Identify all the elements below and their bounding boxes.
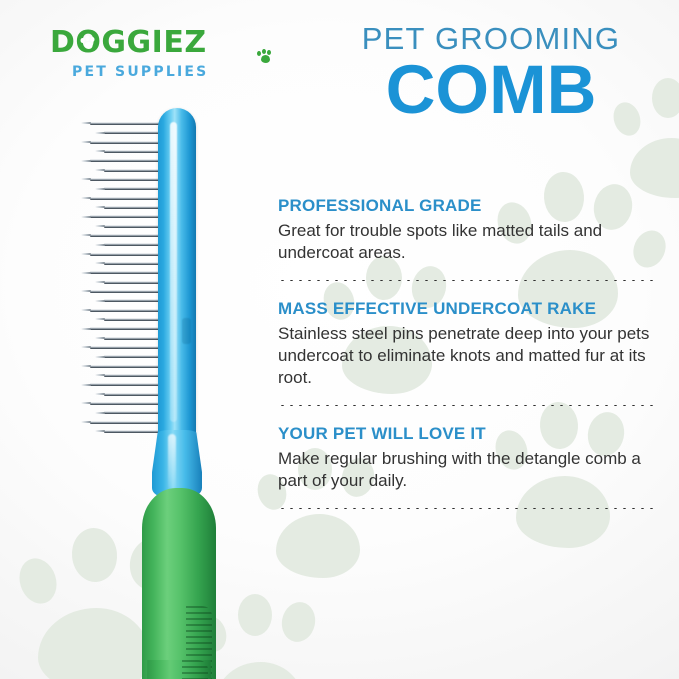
comb-pin	[90, 253, 162, 256]
comb-handle-lower	[146, 660, 212, 679]
title-main: COMB	[331, 56, 651, 124]
comb-pin	[104, 318, 162, 321]
feature-item: MASS EFFECTIVE UNDERCOAT RAKE Stainless …	[278, 299, 658, 406]
divider	[278, 280, 658, 281]
brand-tagline: PET SUPPLIES	[72, 64, 270, 80]
comb-handle	[142, 488, 216, 679]
comb-head-highlight	[170, 122, 177, 422]
comb-pin	[90, 271, 162, 274]
product-infographic: DO GGIEZ PET SUPPLIES PET GROOMING COMB …	[0, 0, 679, 679]
product-image-comb	[80, 100, 280, 679]
comb-pin	[90, 383, 162, 386]
feature-list: PROFESSIONAL GRADE Great for trouble spo…	[278, 196, 658, 527]
comb-pin	[90, 421, 162, 424]
feature-body: Great for trouble spots like matted tail…	[278, 220, 658, 264]
comb-pin	[104, 337, 162, 340]
comb-pin	[90, 159, 162, 162]
comb-pin	[104, 150, 162, 153]
brand-name-part2: GGIEZ	[101, 25, 206, 60]
divider	[278, 508, 658, 509]
feature-body: Make regular brushing with the detangle …	[278, 448, 658, 492]
comb-brand-mark	[182, 318, 191, 344]
brand-name: DO GGIEZ	[50, 28, 270, 58]
comb-pin	[104, 262, 162, 265]
feature-heading: YOUR PET WILL LOVE IT	[278, 424, 658, 444]
comb-pin	[104, 430, 162, 433]
divider	[278, 405, 658, 406]
grip-ribs	[182, 660, 208, 679]
feature-item: YOUR PET WILL LOVE IT Make regular brush…	[278, 424, 658, 509]
comb-pin	[104, 243, 162, 246]
comb-pin	[90, 346, 162, 349]
comb-neck-highlight	[168, 434, 176, 490]
brand-name-part1: D	[50, 25, 75, 60]
paw-icon	[257, 49, 272, 64]
comb-pin	[90, 122, 162, 125]
comb-pin	[104, 374, 162, 377]
comb-pin	[90, 197, 162, 200]
brand-letter-o: O	[75, 28, 101, 58]
feature-heading: PROFESSIONAL GRADE	[278, 196, 658, 216]
comb-pin	[104, 393, 162, 396]
comb-pin	[90, 309, 162, 312]
comb-pin	[90, 234, 162, 237]
feature-item: PROFESSIONAL GRADE Great for trouble spo…	[278, 196, 658, 281]
comb-pin	[104, 225, 162, 228]
comb-pin	[104, 299, 162, 302]
comb-pin	[104, 206, 162, 209]
feature-heading: MASS EFFECTIVE UNDERCOAT RAKE	[278, 299, 658, 319]
comb-pin	[90, 178, 162, 181]
comb-pin	[90, 327, 162, 330]
comb-pin	[90, 365, 162, 368]
paw-icon	[81, 37, 96, 51]
comb-pin	[104, 355, 162, 358]
comb-pin	[90, 215, 162, 218]
comb-pin	[104, 411, 162, 414]
comb-pin	[104, 187, 162, 190]
comb-head	[158, 108, 196, 448]
page-title: PET GROOMING COMB	[331, 22, 651, 124]
comb-pin	[90, 290, 162, 293]
brand-logo: DO GGIEZ PET SUPPLIES	[50, 28, 270, 86]
comb-pin	[90, 402, 162, 405]
comb-pin	[104, 131, 162, 134]
comb-pin	[90, 141, 162, 144]
comb-pin	[104, 169, 162, 172]
comb-pin	[104, 281, 162, 284]
feature-body: Stainless steel pins penetrate deep into…	[278, 323, 658, 389]
